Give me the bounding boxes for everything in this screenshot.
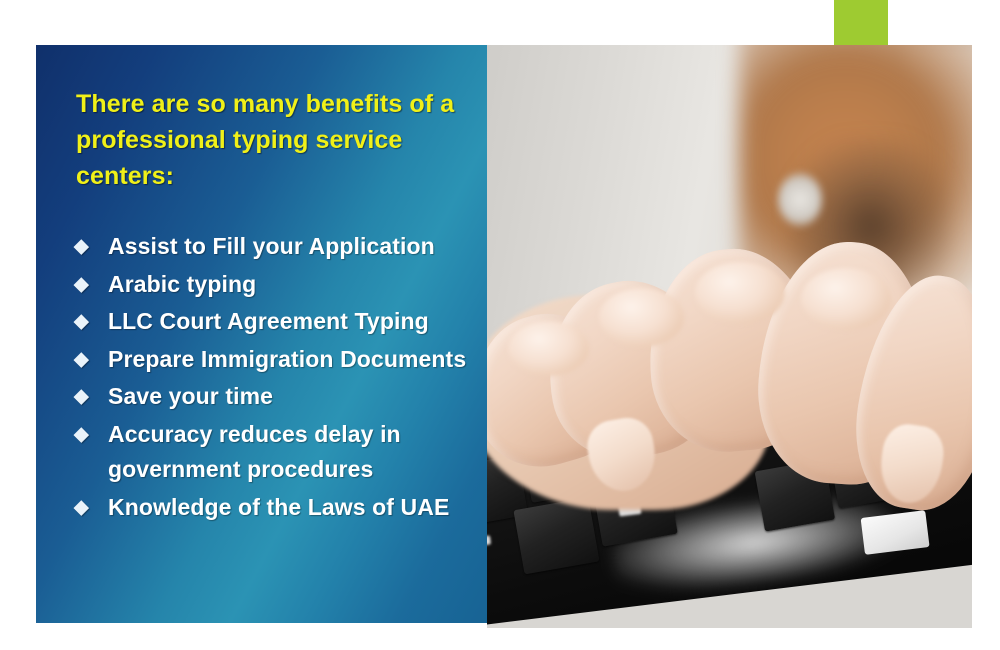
photo-hand	[487, 197, 972, 523]
hand-knuckle	[508, 321, 589, 376]
hand-knuckle	[599, 288, 685, 347]
list-item: ◆ Arabic typing	[62, 267, 482, 303]
list-item-label: Prepare Immigration Documents	[108, 346, 466, 372]
blue-text-panel: There are so many benefits of a professi…	[36, 45, 488, 623]
diamond-bullet-icon: ◆	[74, 342, 94, 378]
diamond-bullet-icon: ◆	[74, 490, 94, 526]
hand-knuckle	[801, 268, 892, 330]
green-accent-bar	[834, 0, 888, 46]
key-highlight	[487, 535, 491, 547]
list-item-label: LLC Court Agreement Typing	[108, 308, 429, 334]
list-item: ◆ Accuracy reduces delay in government p…	[62, 417, 482, 488]
diamond-bullet-icon: ◆	[74, 379, 94, 415]
diamond-bullet-icon: ◆	[74, 304, 94, 340]
panel-heading: There are so many benefits of a professi…	[76, 86, 472, 194]
list-item-label: Save your time	[108, 383, 273, 409]
list-item-label: Accuracy reduces delay in government pro…	[108, 421, 401, 483]
diamond-bullet-icon: ◆	[74, 417, 94, 453]
diamond-bullet-icon: ◆	[74, 267, 94, 303]
list-item: ◆ Knowledge of the Laws of UAE	[62, 490, 482, 526]
list-item-label: Knowledge of the Laws of UAE	[108, 494, 449, 520]
hand-knuckle	[695, 262, 786, 324]
list-item-label: Arabic typing	[108, 271, 256, 297]
typing-hand-photo	[487, 45, 972, 628]
list-item-label: Assist to Fill your Application	[108, 233, 435, 259]
slide-canvas: There are so many benefits of a professi…	[0, 0, 1000, 650]
benefits-list: ◆ Assist to Fill your Application ◆ Arab…	[62, 229, 482, 527]
list-item: ◆ Prepare Immigration Documents	[62, 342, 482, 378]
list-item: ◆ Assist to Fill your Application	[62, 229, 482, 265]
list-item: ◆ LLC Court Agreement Typing	[62, 304, 482, 340]
diamond-bullet-icon: ◆	[74, 229, 94, 265]
list-item: ◆ Save your time	[62, 379, 482, 415]
